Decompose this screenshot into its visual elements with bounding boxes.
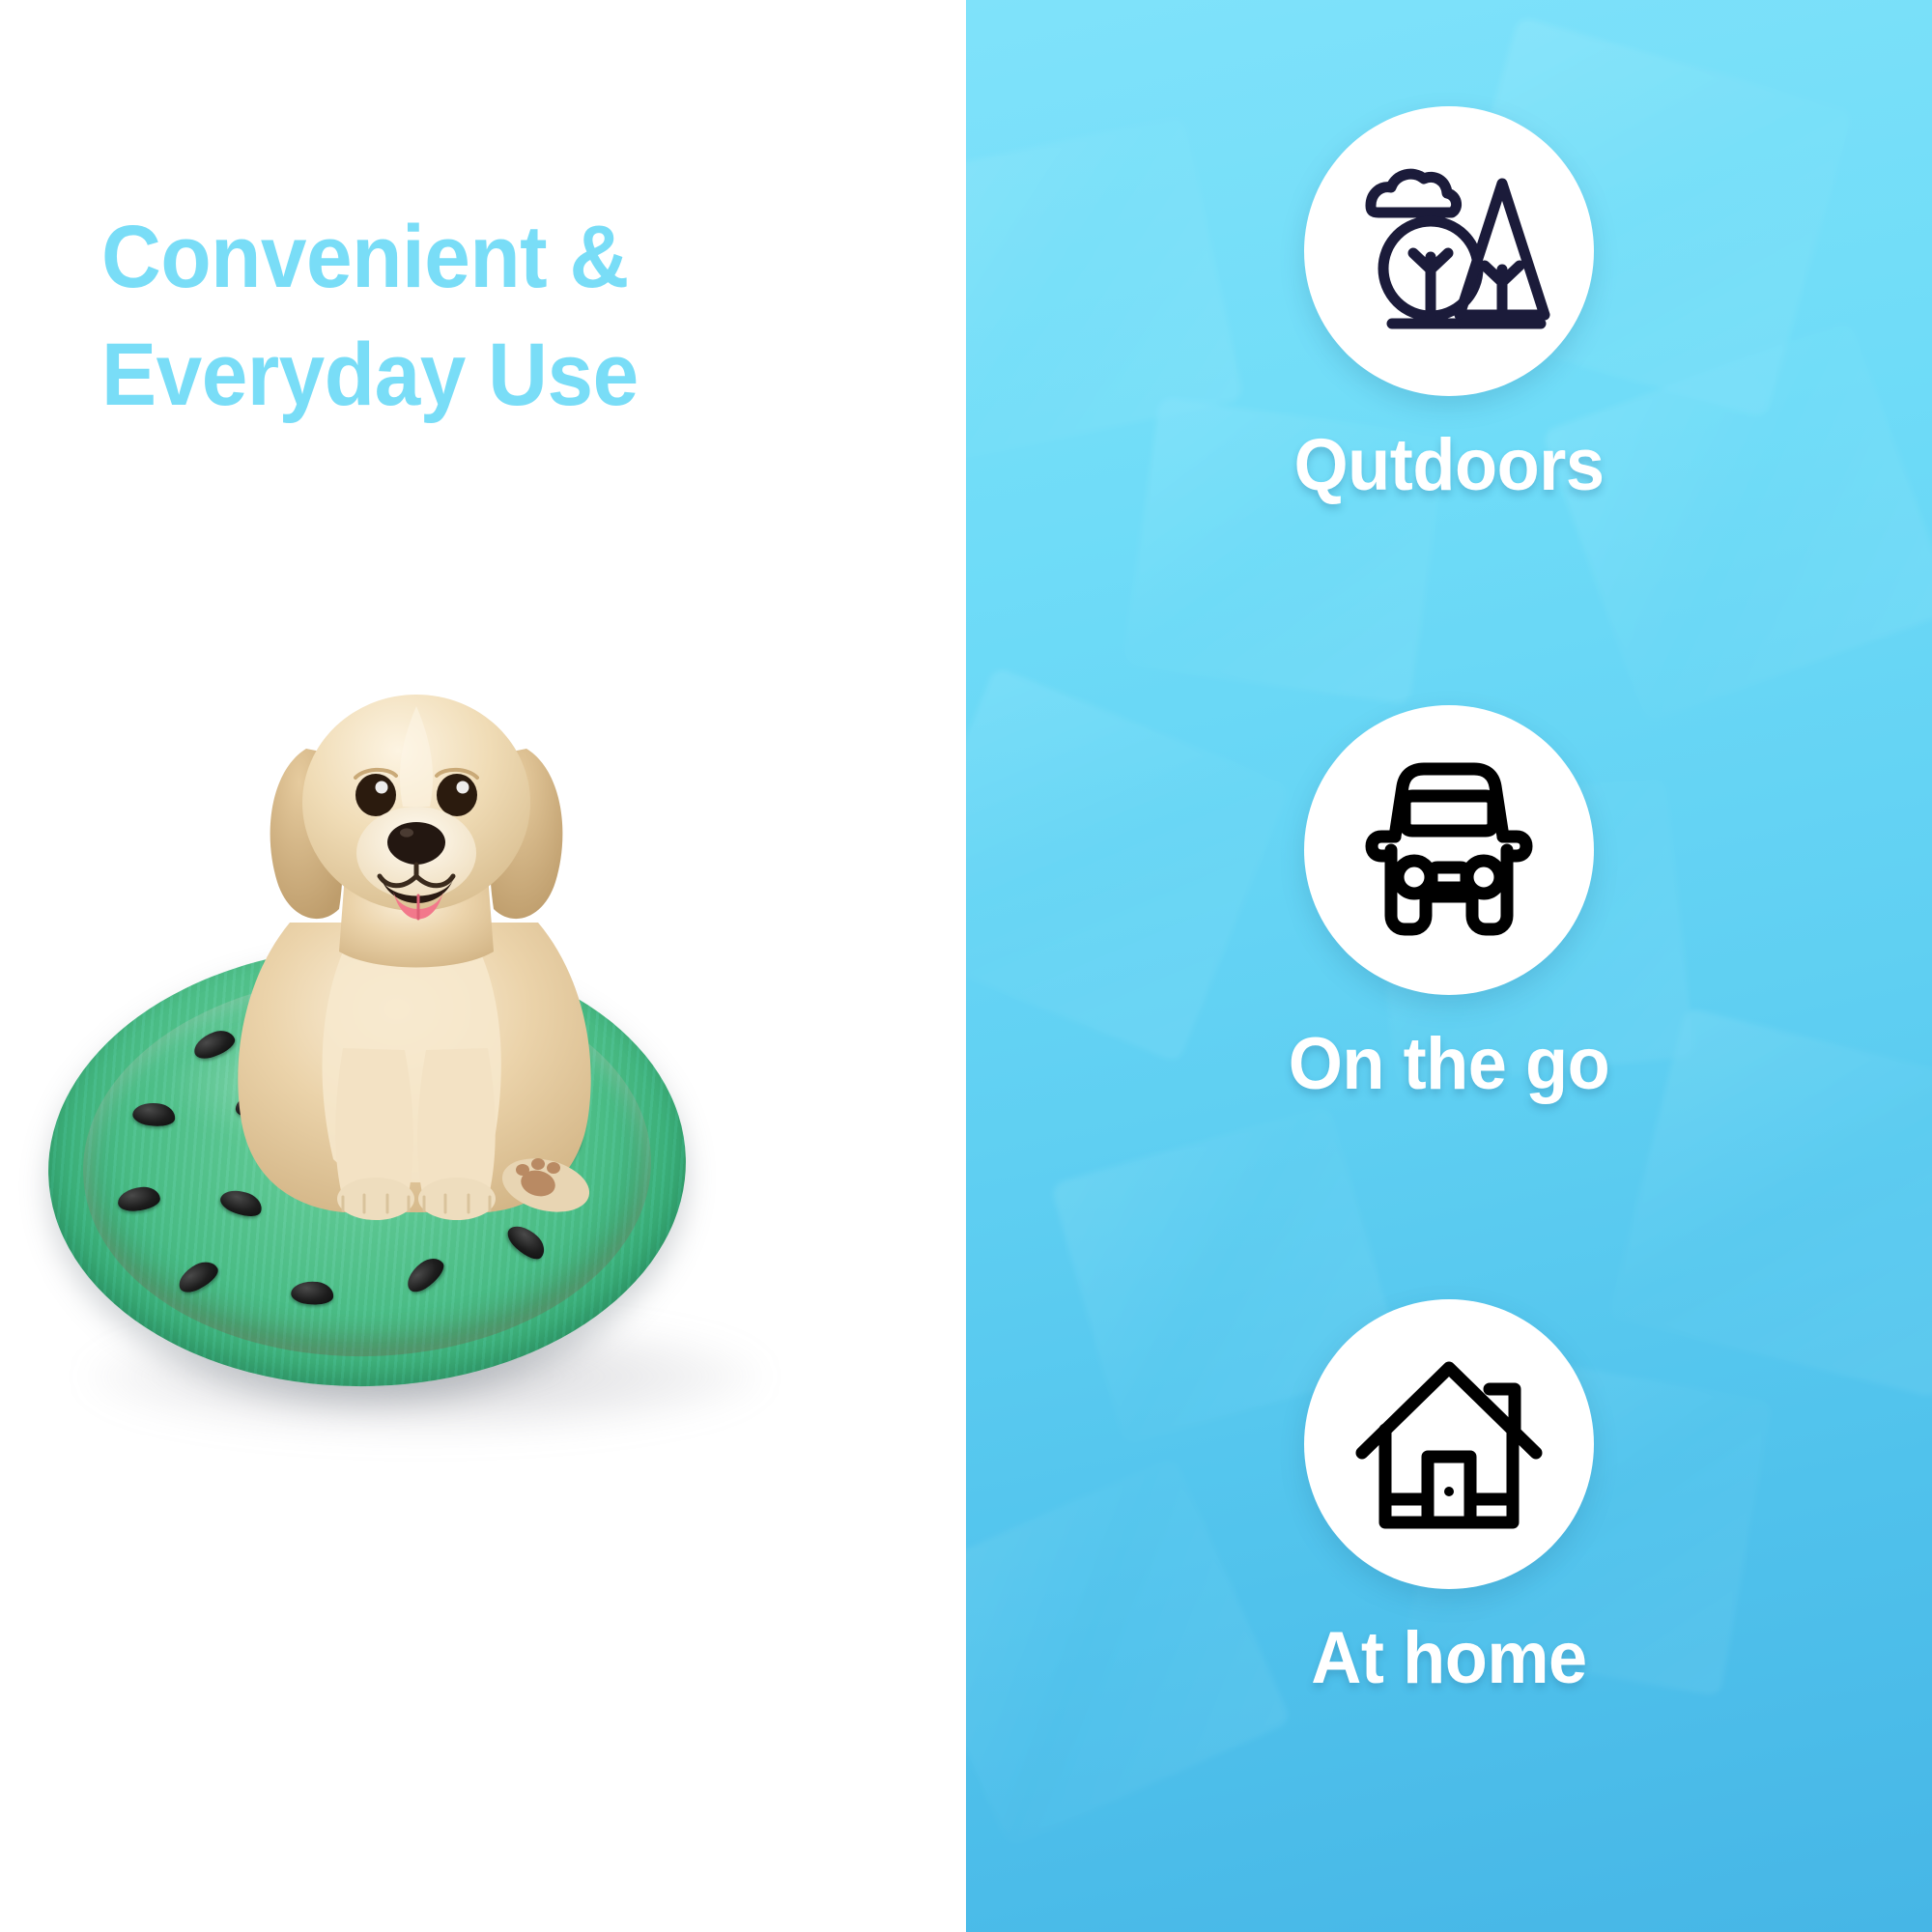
feature-label-on-the-go: On the go — [990, 1028, 1908, 1101]
feature-outdoors[interactable]: Qutdoors — [966, 106, 1932, 502]
mat-seed — [117, 1185, 161, 1212]
product-photo — [0, 589, 966, 1922]
feature-badge-on-the-go — [1304, 705, 1594, 995]
right-panel: Qutdoors On the go — [966, 0, 1932, 1932]
headline-line-1: Convenient & — [101, 198, 838, 316]
mat-seed — [401, 1253, 449, 1297]
left-panel: Convenient & Everyday Use — [0, 0, 966, 1932]
feature-at-home[interactable]: At home — [966, 1299, 1932, 1695]
car-icon — [1352, 761, 1546, 940]
puppy-eye-right — [437, 774, 477, 816]
house-icon — [1352, 1352, 1546, 1536]
puppy-illustration — [198, 633, 613, 1232]
feature-badge-at-home — [1304, 1299, 1594, 1589]
page-title: Convenient & Everyday Use — [101, 198, 838, 435]
headline-line-2: Everyday Use — [101, 316, 838, 434]
feature-label-at-home: At home — [990, 1622, 1908, 1695]
outdoors-trees-icon — [1346, 153, 1553, 351]
puppy-paw-right — [418, 1178, 496, 1220]
puppy-paw-left — [337, 1178, 414, 1220]
product-feature-banner: Convenient & Everyday Use — [0, 0, 1932, 1932]
feature-badge-outdoors — [1304, 106, 1594, 396]
mat-seed — [174, 1257, 222, 1297]
mat-seed — [290, 1279, 334, 1307]
feature-on-the-go[interactable]: On the go — [966, 705, 1932, 1101]
puppy-eye-left — [355, 774, 396, 816]
feature-label-outdoors: Qutdoors — [990, 429, 1908, 502]
